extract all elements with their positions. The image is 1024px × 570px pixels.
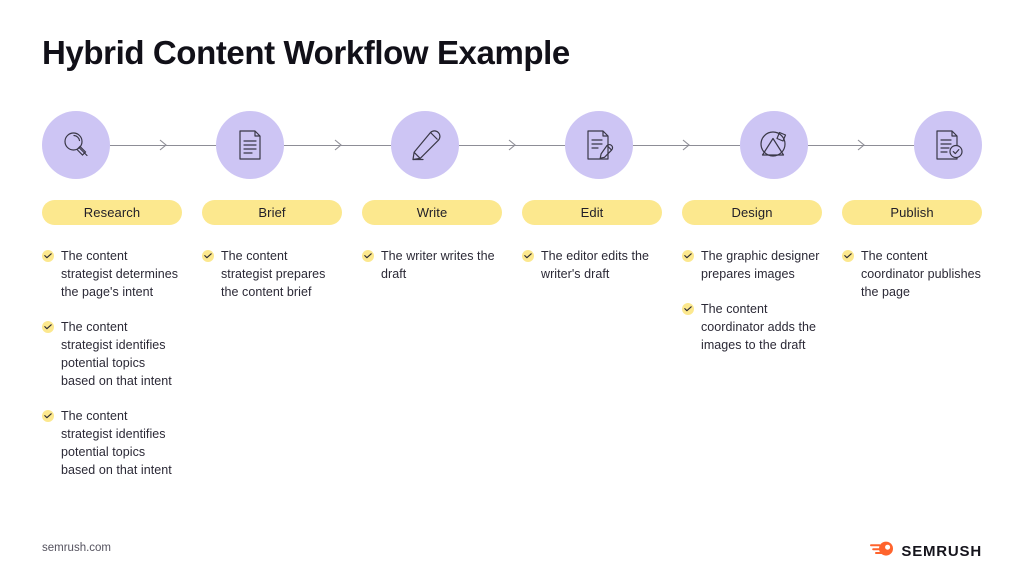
stage-label-research[interactable]: Research — [42, 200, 182, 225]
check-icon — [682, 250, 694, 262]
stage-node-edit[interactable] — [565, 111, 633, 179]
arrow-head-icon — [856, 139, 866, 151]
list-item: The content coordinator publishes the pa… — [842, 247, 982, 301]
connector-2 — [284, 135, 390, 155]
stage-node-publish[interactable] — [914, 111, 982, 179]
connector-5 — [808, 135, 914, 155]
stage-column-brief: Brief The content strategist prepares th… — [202, 200, 342, 479]
check-icon — [42, 410, 54, 422]
list-item: The content strategist prepares the cont… — [202, 247, 342, 301]
list-item: The content strategist identifies potent… — [42, 318, 182, 390]
page-title: Hybrid Content Workflow Example — [42, 34, 570, 72]
bullet-text: The content coordinator adds the images … — [701, 300, 822, 354]
check-icon — [522, 250, 534, 262]
check-icon — [842, 250, 854, 262]
semrush-logo: SEMRUSH — [870, 540, 982, 562]
stage-bullet-list: The writer writes the draft — [362, 247, 502, 283]
stage-column-design: Design The graphic designer prepares ima… — [682, 200, 822, 479]
bullet-text: The content strategist determines the pa… — [61, 247, 182, 301]
check-icon — [42, 250, 54, 262]
bullet-text: The content strategist prepares the cont… — [221, 247, 342, 301]
check-icon — [362, 250, 374, 262]
stage-bullet-list: The content strategist prepares the cont… — [202, 247, 342, 301]
document-lines-icon — [234, 128, 266, 162]
semrush-flame-icon — [870, 540, 894, 562]
stage-label-publish[interactable]: Publish — [842, 200, 982, 225]
document-check-icon — [932, 128, 964, 162]
arrow-head-icon — [507, 139, 517, 151]
connector-4 — [633, 135, 739, 155]
stage-bullet-list: The content strategist determines the pa… — [42, 247, 182, 479]
arrow-head-icon — [333, 139, 343, 151]
stage-bullet-list: The graphic designer prepares images The… — [682, 247, 822, 354]
arrow-head-icon — [158, 139, 168, 151]
stage-node-research[interactable] — [42, 111, 110, 179]
bullet-text: The editor edits the writer's draft — [541, 247, 662, 283]
bullet-text: The content strategist identifies potent… — [61, 407, 182, 479]
check-icon — [202, 250, 214, 262]
semrush-wordmark: SEMRUSH — [901, 543, 982, 560]
list-item: The content coordinator adds the images … — [682, 300, 822, 354]
stage-column-research: Research The content strategist determin… — [42, 200, 182, 479]
check-icon — [42, 321, 54, 333]
stage-bullet-list: The editor edits the writer's draft — [522, 247, 662, 283]
stage-label-design[interactable]: Design — [682, 200, 822, 225]
bullet-text: The content strategist identifies potent… — [61, 318, 182, 390]
stage-bullet-list: The content coordinator publishes the pa… — [842, 247, 982, 301]
stage-label-edit[interactable]: Edit — [522, 200, 662, 225]
stage-node-write[interactable] — [391, 111, 459, 179]
bullet-text: The graphic designer prepares images — [701, 247, 822, 283]
list-item: The graphic designer prepares images — [682, 247, 822, 283]
stage-column-write: Write The writer writes the draft — [362, 200, 502, 479]
stage-node-design[interactable] — [740, 111, 808, 179]
connector-1 — [110, 135, 216, 155]
stage-column-publish: Publish The content coordinator publishe… — [842, 200, 982, 479]
connector-3 — [459, 135, 565, 155]
stage-label-brief[interactable]: Brief — [202, 200, 342, 225]
list-item: The editor edits the writer's draft — [522, 247, 662, 283]
document-pencil-icon — [583, 128, 615, 162]
infographic-canvas: Hybrid Content Workflow Example — [0, 0, 1024, 570]
list-item: The content strategist determines the pa… — [42, 247, 182, 301]
list-item: The writer writes the draft — [362, 247, 502, 283]
bullet-text: The writer writes the draft — [381, 247, 502, 283]
stage-columns: Research The content strategist determin… — [42, 200, 982, 479]
arrow-head-icon — [681, 139, 691, 151]
pencil-icon — [408, 128, 442, 162]
stage-column-edit: Edit The editor edits the writer's draft — [522, 200, 662, 479]
stage-node-brief[interactable] — [216, 111, 284, 179]
check-icon — [682, 303, 694, 315]
list-item: The content strategist identifies potent… — [42, 407, 182, 479]
workflow-flow-row — [42, 106, 982, 184]
footer-url: semrush.com — [42, 542, 111, 554]
image-mountain-icon — [757, 128, 791, 162]
bullet-text: The content coordinator publishes the pa… — [861, 247, 982, 301]
stage-label-write[interactable]: Write — [362, 200, 502, 225]
magnifier-icon — [59, 128, 93, 162]
